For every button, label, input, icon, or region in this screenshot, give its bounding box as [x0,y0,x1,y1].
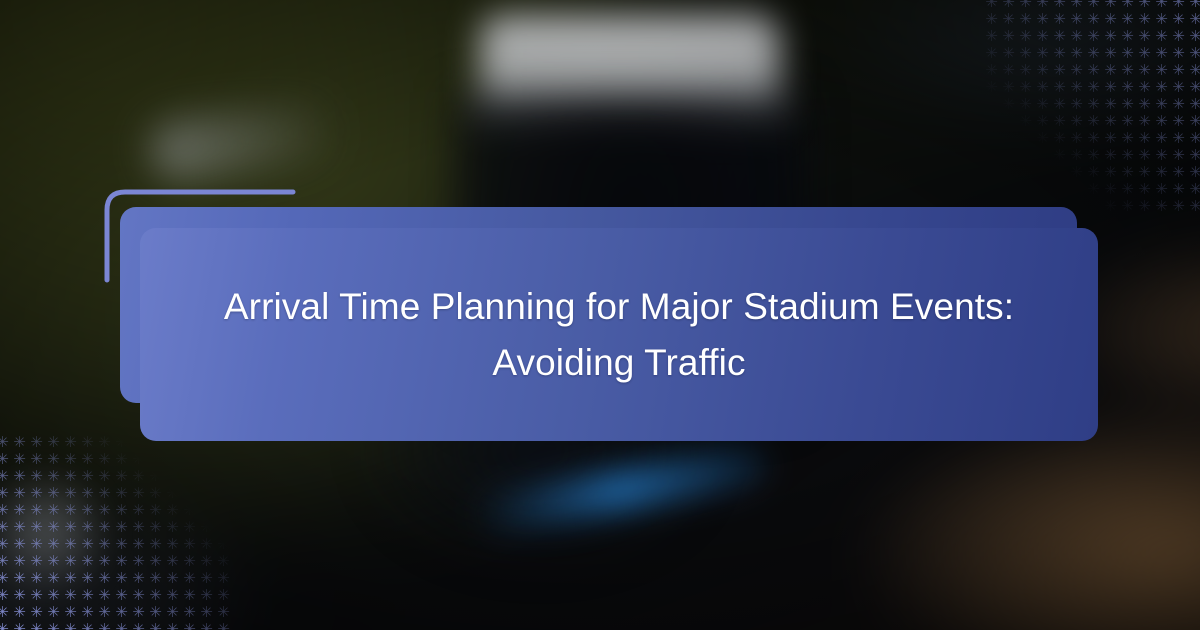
page-title: Arrival Time Planning for Major Stadium … [140,279,1098,390]
title-card: Arrival Time Planning for Major Stadium … [140,228,1098,441]
banner-canvas: ✳✳✳✳✳✳✳✳✳✳✳✳✳✳✳✳✳✳✳✳✳✳✳✳✳✳✳✳✳✳✳✳✳✳✳✳✳✳✳✳… [0,0,1200,630]
